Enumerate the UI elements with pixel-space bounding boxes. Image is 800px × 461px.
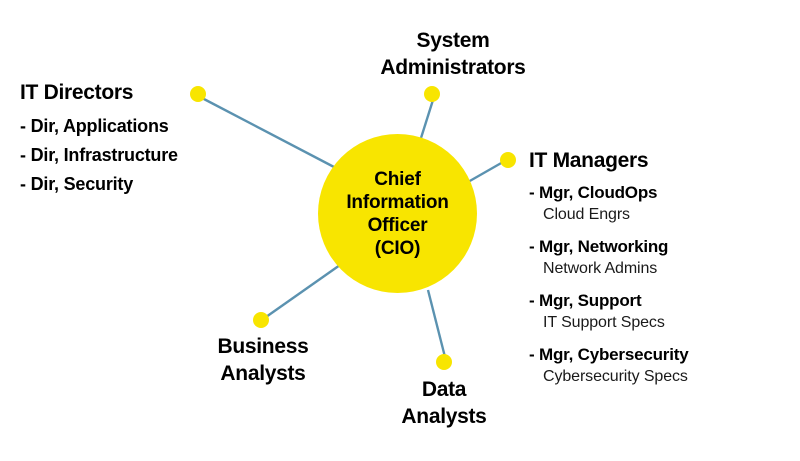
connector-system-administrators <box>421 100 433 138</box>
node-business-analysts[interactable]: Business Analysts <box>178 333 348 387</box>
list-item: - Mgr, Networking Network Admins <box>529 235 794 280</box>
node-items-it-directors: - Dir, Applications - Dir, Infrastructur… <box>20 112 280 199</box>
sub-item-primary: - Mgr, CloudOps <box>529 181 794 204</box>
list-item: - Mgr, Cybersecurity Cybersecurity Specs <box>529 343 794 388</box>
node-dot-data-analysts[interactable] <box>436 354 452 370</box>
list-item: - Dir, Security <box>20 170 280 199</box>
node-data-analysts[interactable]: Data Analysts <box>374 376 514 430</box>
node-it-directors[interactable]: IT Directors - Dir, Applications - Dir, … <box>20 79 280 199</box>
node-system-administrators[interactable]: System Administrators <box>318 27 588 81</box>
node-title-system-administrators: System Administrators <box>318 27 588 81</box>
hub-label: Chief Information Officer (CIO) <box>346 168 448 260</box>
connector-data-analysts <box>428 290 445 357</box>
hub-node-cio[interactable]: Chief Information Officer (CIO) <box>318 134 477 293</box>
list-item: - Dir, Applications <box>20 112 280 141</box>
node-dot-system-administrators[interactable] <box>424 86 440 102</box>
list-item: - Mgr, Support IT Support Specs <box>529 289 794 334</box>
node-title-data-analysts: Data Analysts <box>374 376 514 430</box>
sub-item-secondary: Cybersecurity Specs <box>529 366 794 388</box>
node-dot-business-analysts[interactable] <box>253 312 269 328</box>
sub-item-primary: - Mgr, Cybersecurity <box>529 343 794 366</box>
sub-item-primary: - Mgr, Support <box>529 289 794 312</box>
diagram-canvas: Chief Information Officer (CIO) IT Direc… <box>0 0 800 461</box>
node-items-it-managers: - Mgr, CloudOps Cloud Engrs - Mgr, Netwo… <box>529 181 794 388</box>
node-dot-it-managers[interactable] <box>500 152 516 168</box>
list-item: - Mgr, CloudOps Cloud Engrs <box>529 181 794 226</box>
node-title-it-directors: IT Directors <box>20 79 280 106</box>
connector-business-analysts <box>266 265 340 317</box>
node-title-business-analysts: Business Analysts <box>178 333 348 387</box>
sub-item-secondary: Network Admins <box>529 258 794 280</box>
sub-item-secondary: Cloud Engrs <box>529 204 794 226</box>
connector-it-managers <box>468 162 503 182</box>
list-item: - Dir, Infrastructure <box>20 141 280 170</box>
sub-item-primary: - Mgr, Networking <box>529 235 794 258</box>
node-it-managers[interactable]: IT Managers - Mgr, CloudOps Cloud Engrs … <box>529 147 794 388</box>
sub-item-secondary: IT Support Specs <box>529 312 794 334</box>
node-title-it-managers: IT Managers <box>529 147 794 174</box>
